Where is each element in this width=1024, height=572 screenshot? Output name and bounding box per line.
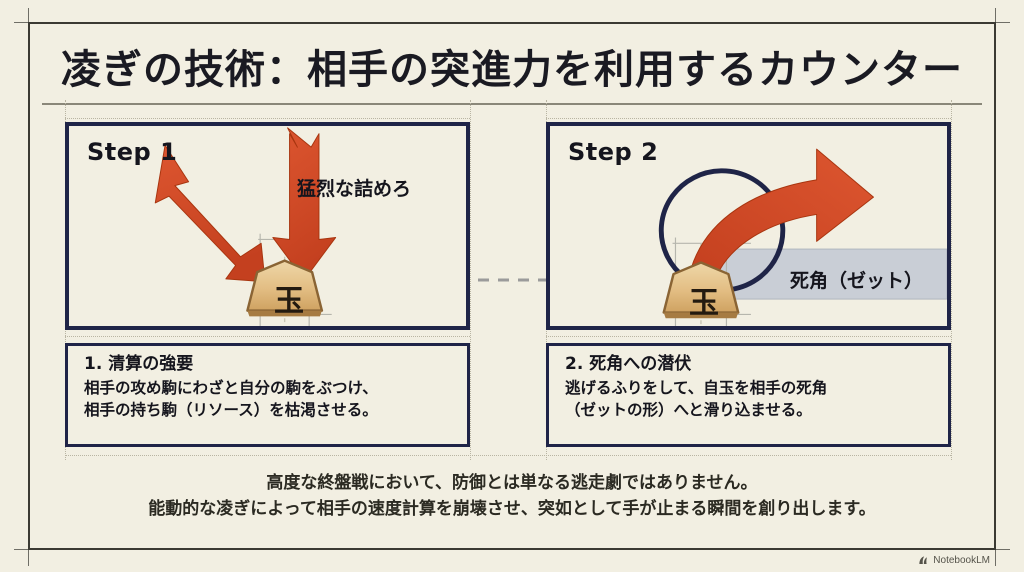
page-title: 凌ぎの技術：相手の突進力を利用するカウンター — [61, 37, 963, 95]
guide-v-mid-left — [470, 100, 471, 460]
attack-arrow-vertical — [273, 128, 336, 280]
notebooklm-icon — [918, 555, 929, 566]
guide-line-mid-2 — [546, 336, 951, 337]
guide-line-mid — [65, 336, 470, 337]
caption-box-1: 1. 清算の強要 相手の攻め駒にわざと自分の駒をぶつけ、 相手の持ち駒（リソース… — [65, 343, 470, 447]
guide-line-bottom — [65, 455, 951, 456]
step-2-label: Step 2 — [568, 138, 658, 166]
guide-line-top-2 — [546, 118, 951, 119]
step-1-label: Step 1 — [87, 138, 177, 166]
notebooklm-watermark: NotebookLM — [918, 555, 990, 566]
caption-1-line-1: 相手の攻め駒にわざと自分の駒をぶつけ、 — [84, 377, 453, 399]
title-divider — [42, 103, 982, 105]
watermark-label: NotebookLM — [933, 555, 990, 566]
annotation-fierce-mate-threat: 猛烈な詰めろ — [297, 174, 411, 201]
caption-1-title: 1. 清算の強要 — [84, 353, 453, 376]
footer-line-1: 高度な終盤戦において、防御とは単なる逃走劇ではありません。 — [28, 470, 996, 496]
caption-2-line-2: （ゼットの形）へと滑り込ませる。 — [565, 399, 934, 421]
footer-line-2: 能動的な凌ぎによって相手の速度計算を崩壊させ、突如として手が止まる瞬間を創り出し… — [28, 496, 996, 522]
caption-1-line-2: 相手の持ち駒（リソース）を枯渇させる。 — [84, 399, 453, 421]
footer-text: 高度な終盤戦において、防御とは単なる逃走劇ではありません。 能動的な凌ぎによって… — [28, 470, 996, 523]
panel-step-2: Step 2 — [546, 122, 951, 330]
infographic-slide: 凌ぎの技術：相手の突進力を利用するカウンター Step 1 — [0, 0, 1024, 572]
panel-step-1: Step 1 — [65, 122, 470, 330]
caption-2-title: 2. 死角への潜伏 — [565, 353, 934, 376]
guide-v-right — [951, 100, 952, 460]
guide-line-top — [65, 118, 470, 119]
caption-2-line-1: 逃げるふりをして、自玉を相手の死角 — [565, 377, 934, 399]
annotation-blind-spot: 死角（ゼット） — [790, 266, 923, 293]
title-container: 凌ぎの技術：相手の突進力を利用するカウンター — [28, 30, 996, 102]
caption-box-2: 2. 死角への潜伏 逃げるふりをして、自玉を相手の死角 （ゼットの形）へと滑り込… — [546, 343, 951, 447]
